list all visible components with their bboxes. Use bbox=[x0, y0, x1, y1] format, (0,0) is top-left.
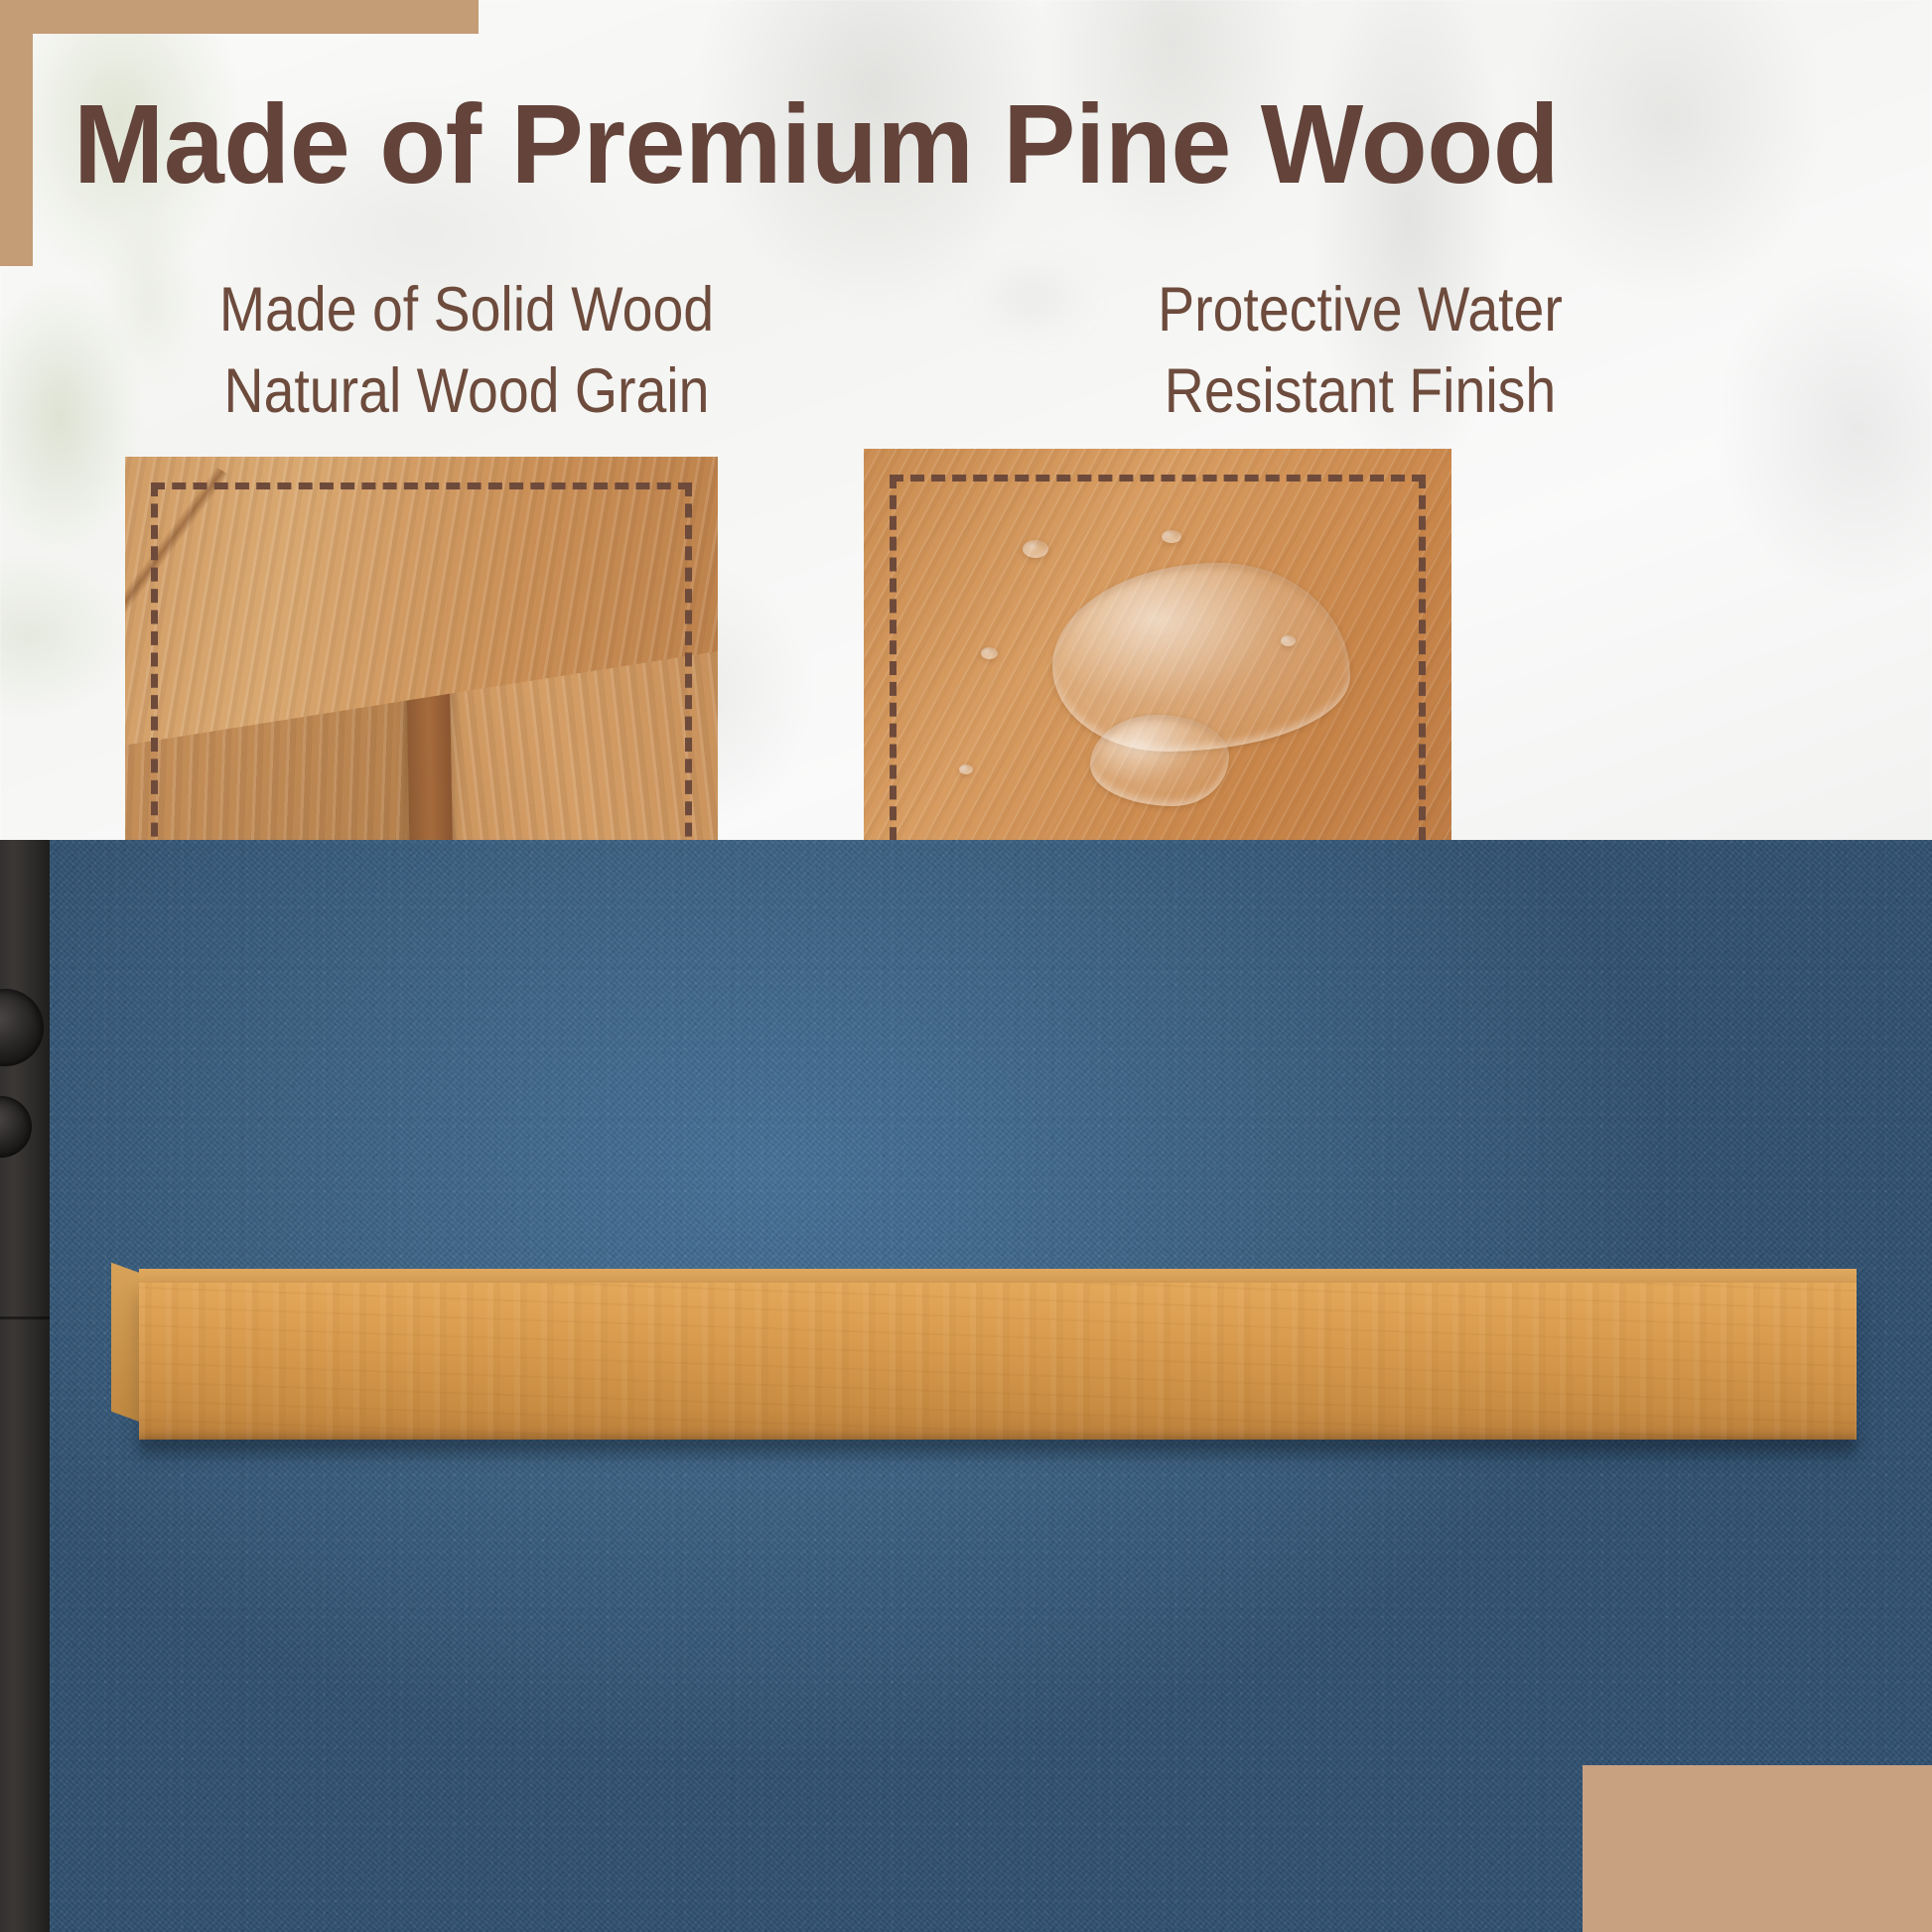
shelf-drop-shadow bbox=[139, 1438, 1857, 1463]
infographic-canvas: Made of Premium Pine Wood Made of Solid … bbox=[0, 0, 1932, 1932]
shelf-front-face bbox=[139, 1283, 1857, 1440]
bottom-right-corner-accent bbox=[1583, 1765, 1932, 1932]
water-droplet-small bbox=[1023, 540, 1048, 558]
corner-accent-left-bar bbox=[0, 0, 33, 266]
water-droplet-medium bbox=[1090, 715, 1229, 806]
water-droplet-small bbox=[1281, 635, 1296, 646]
water-droplet-small bbox=[1162, 530, 1181, 543]
feature-caption-solid-wood: Made of Solid Wood Natural Wood Grain bbox=[143, 270, 789, 433]
caption-line-2: Resistant Finish bbox=[1036, 351, 1683, 433]
speaker-tower bbox=[0, 840, 50, 1932]
water-droplet-small bbox=[959, 764, 973, 774]
speaker-driver-lower bbox=[0, 1096, 32, 1158]
feature-caption-water-resistant: Protective Water Resistant Finish bbox=[1036, 270, 1683, 433]
feature-photo-water-resistant bbox=[864, 449, 1451, 888]
water-droplet-small bbox=[981, 647, 998, 659]
floating-wood-shelf bbox=[139, 1269, 1857, 1440]
page-title: Made of Premium Pine Wood bbox=[73, 87, 1836, 202]
speaker-panel-seam bbox=[0, 1316, 50, 1319]
caption-line-1: Protective Water bbox=[1036, 270, 1683, 351]
caption-line-2: Natural Wood Grain bbox=[143, 351, 789, 433]
corner-accent-top-bar bbox=[0, 0, 479, 34]
speaker-driver-upper bbox=[0, 989, 44, 1066]
caption-line-1: Made of Solid Wood bbox=[143, 270, 789, 351]
